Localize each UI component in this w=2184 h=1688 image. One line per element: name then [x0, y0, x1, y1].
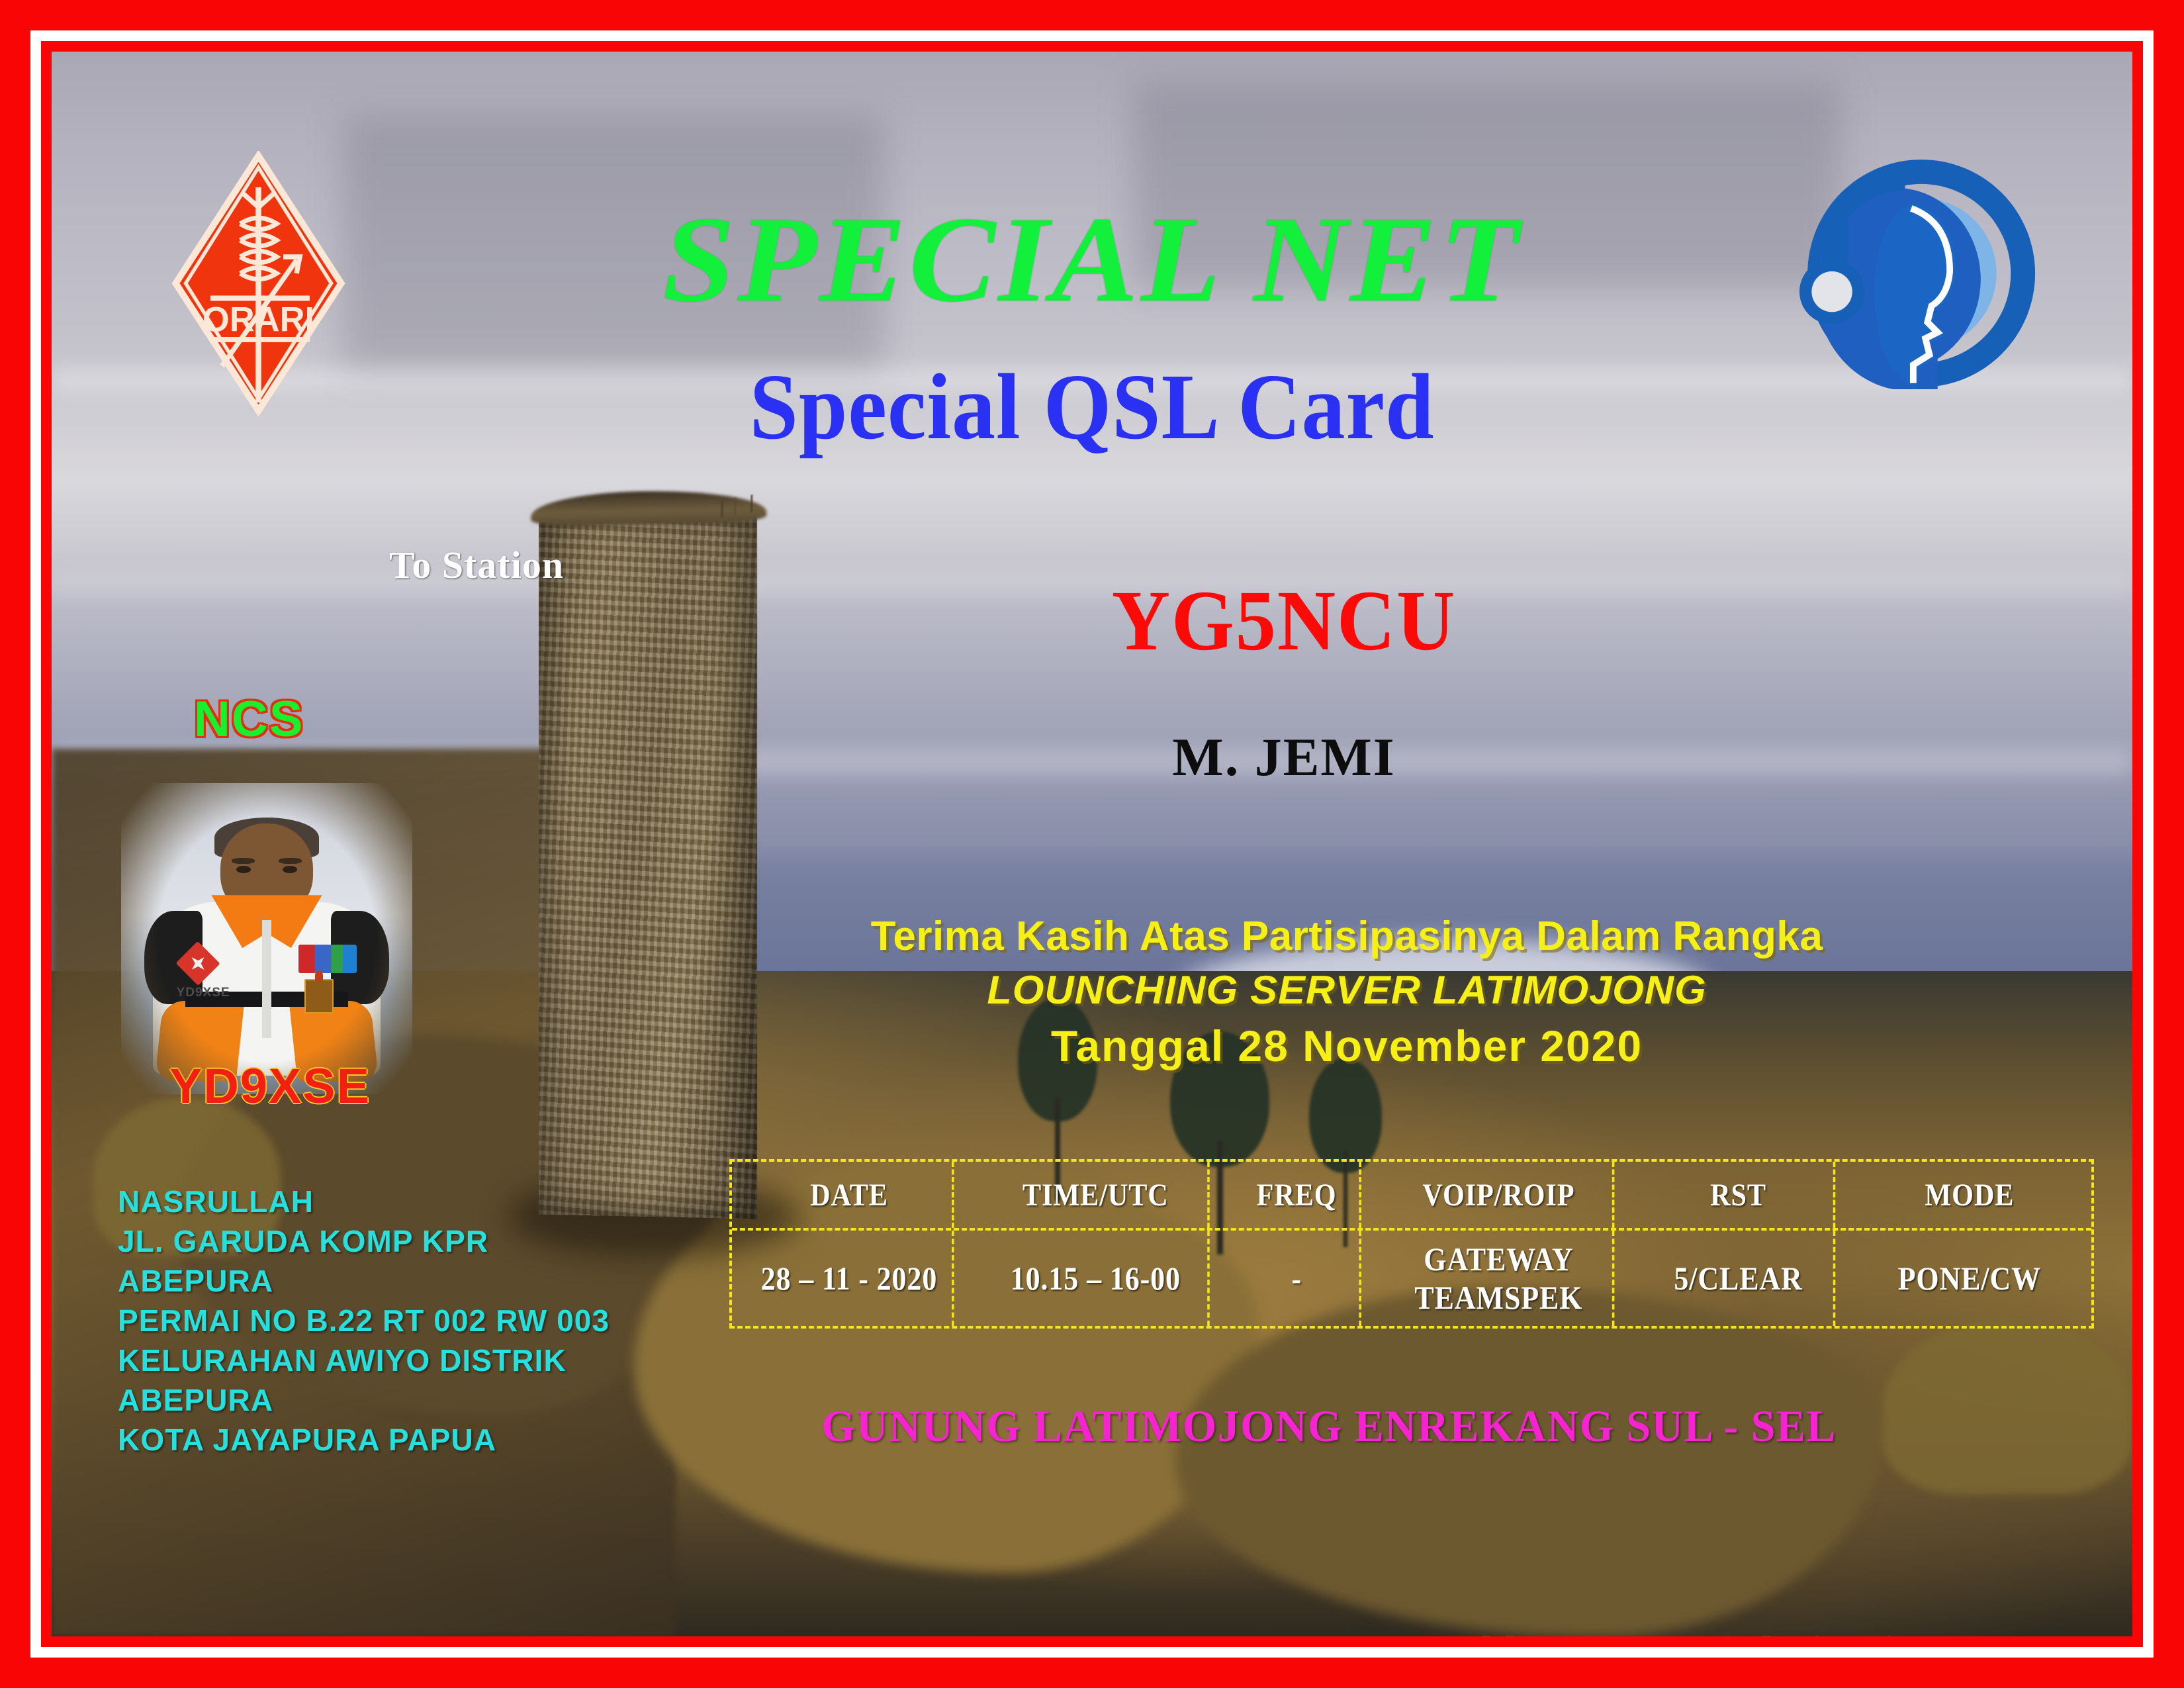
- table-cell-mode: PONE/CW: [1862, 1231, 2077, 1326]
- uniform-id-badge: [304, 979, 334, 1013]
- page-subtitle: Special QSL Card: [124, 359, 2060, 453]
- station-callsign: YG5NCU: [810, 578, 1758, 664]
- card-frame-white: ORARI SPE: [30, 30, 2154, 1658]
- mailing-address-block: NASRULLAH JL. GARUDA KOMP KPR ABEPURA PE…: [118, 1182, 610, 1460]
- table-cell-freq: -: [1234, 1231, 1361, 1326]
- card-frame-inner-red: ORARI SPE: [41, 41, 2143, 1647]
- thanks-line-3: Tanggal 28 November 2020: [713, 1017, 1980, 1075]
- event-location: GUNUNG LATIMOJONG ENREKANG SUL - SEL: [719, 1400, 1939, 1452]
- qsl-card: ORARI SPE: [0, 0, 2184, 1688]
- address-line: ABEPURA: [118, 1380, 610, 1420]
- table-header-rst: RST: [1643, 1162, 1835, 1228]
- page-title: SPECIAL NET: [52, 199, 2132, 321]
- thanks-line-2: LOUNCHING SERVER LATIMOJONG: [701, 964, 1993, 1017]
- address-line: PERMAI NO B.22 RT 002 RW 003: [118, 1301, 610, 1340]
- to-station-label: To Station: [389, 543, 564, 587]
- qso-log-table: DATE TIME/UTC FREQ VOIP/ROIP RST MODE 28…: [729, 1159, 2094, 1329]
- table-header-date: DATE: [746, 1162, 954, 1228]
- table-cell-time: 10.15 – 16-00: [984, 1231, 1210, 1326]
- operator-name: M. JEMI: [780, 730, 1788, 784]
- operator-photo: YD9XSE: [121, 783, 412, 1094]
- table-header-voip: VOIP/ROIP: [1385, 1162, 1615, 1228]
- address-line: ABEPURA: [118, 1261, 610, 1301]
- uniform-club-logo: [298, 945, 357, 972]
- address-line: NASRULLAH: [118, 1182, 610, 1221]
- thanks-line-1: Terima Kasih Atas Partisipasinya Dalam R…: [713, 909, 1980, 964]
- thanks-block: Terima Kasih Atas Partisipasinya Dalam R…: [713, 909, 1980, 1076]
- table-header-row: DATE TIME/UTC FREQ VOIP/ROIP RST MODE: [732, 1162, 2091, 1231]
- table-row: 28 – 11 - 2020 10.15 – 16-00 - GATEWAY T…: [732, 1231, 2091, 1326]
- table-header-mode: MODE: [1862, 1162, 2077, 1228]
- ncs-label: NCS: [194, 690, 304, 748]
- footer-address: Address : amatir.latimojong.com: [1437, 1627, 2053, 1636]
- address-line: JL. GARUDA KOMP KPR: [118, 1221, 610, 1261]
- table-cell-rst: 5/CLEAR: [1643, 1231, 1835, 1326]
- address-line: KELURAHAN AWIYO DISTRIK: [118, 1340, 610, 1380]
- table-cell-voip: GATEWAY TEAMSPEK: [1385, 1231, 1615, 1326]
- uniform-callsign-text: YD9XSE: [177, 986, 230, 1000]
- table-header-freq: FREQ: [1234, 1162, 1361, 1228]
- table-cell-date: 28 – 11 - 2020: [746, 1231, 954, 1326]
- ncs-callsign: YD9XSE: [138, 1058, 402, 1114]
- background-photo-mountain-summit: ORARI SPE: [52, 52, 2132, 1636]
- footer-slogan: "AMATIR RADIO ADALAH PROGRESIVE": [130, 1627, 1009, 1636]
- address-line: KOTA JAYAPURA PAPUA: [118, 1420, 610, 1460]
- table-header-time: TIME/UTC: [984, 1162, 1210, 1228]
